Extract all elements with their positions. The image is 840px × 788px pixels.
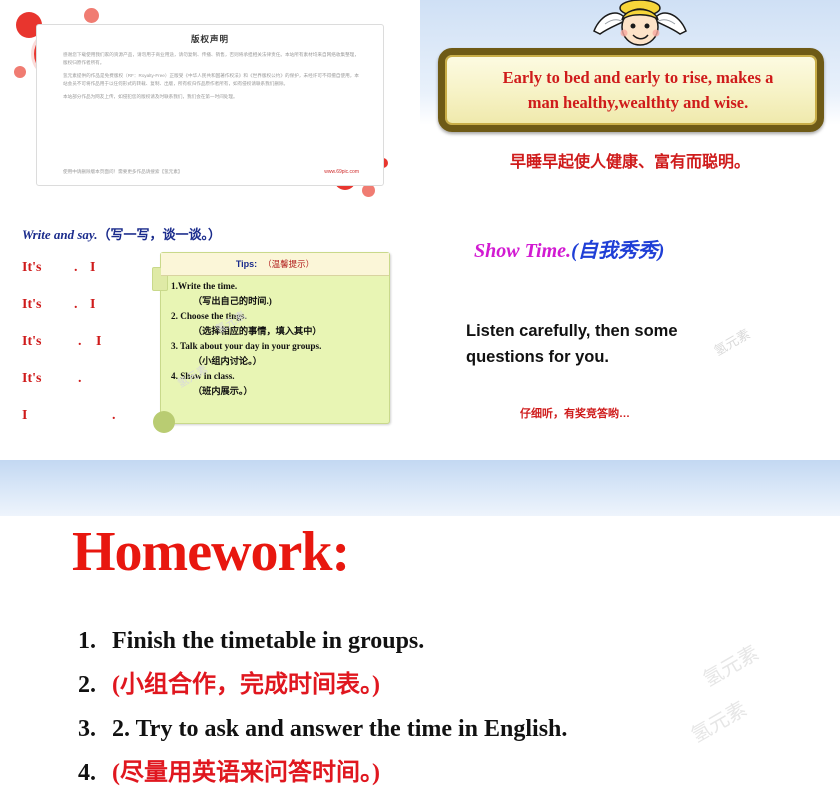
proverb-line-1: Early to bed and early to rise, makes a [455,65,821,90]
sentence-tail: I [90,297,95,313]
write-and-say-title-cn: （写一写，谈一谈。） [97,227,221,242]
homework-header-band [0,460,840,516]
copyright-body: 感谢您下载使用我们家的资源产品，请勿用于商业用途，请勿复制、传播、销售，否则将承… [63,51,359,106]
tips-item: 1.Write the time. [171,279,381,294]
slide-proverb: Early to bed and early to rise, makes a … [420,0,840,208]
tips-item: 3. Talk about your day in your groups. [171,339,381,354]
tips-item: （小组内讨论。） [171,354,381,369]
slide-homework: Homework: 1. Finish the timetable in gro… [0,460,840,788]
homework-item: 3. 2. Try to ask and answer the time in … [78,710,798,748]
homework-item-text: 2. Try to ask and answer the time in Eng… [112,710,567,748]
tips-item: （选择相应的事情，填入其中） [171,324,381,339]
homework-item-number: 2. [78,666,112,704]
slide-copyright: 氢元素 版权声明 感谢您下载使用我们家的资源产品，请勿用于商业用途，请勿复制、传… [0,0,418,208]
write-and-say-title-en: Write and say. [22,227,97,242]
tips-item: （写出自己的时间.) [171,294,381,309]
tips-item: （班内展示。） [171,384,381,399]
sentence-dot: . [74,260,78,276]
proverb-text: Early to bed and early to rise, makes a … [455,65,821,115]
presentation-page: 氢元素 版权声明 感谢您下载使用我们家的资源产品，请勿用于商业用途，请勿复制、传… [0,0,840,788]
show-time-line-2: questions for you. [466,344,796,370]
homework-item: 2. (小组合作，完成时间表。) [78,666,798,704]
copyright-card: 版权声明 感谢您下载使用我们家的资源产品，请勿用于商业用途，请勿复制、传播、销售… [36,24,384,186]
sentence-dot: . [78,371,82,387]
sentence-tail: I [90,260,95,276]
decor-bubble [14,66,26,78]
copyright-footer: 使用中请删除版本页面问！需要更多作品请搜索【氢元素】 www.69pic.com [63,169,359,175]
homework-list: 1. Finish the timetable in groups. 2. (小… [78,622,798,788]
copyright-title: 版权声明 [37,33,383,45]
copyright-url[interactable]: www.69pic.com [324,169,359,175]
copyright-paragraph: 氢元素提供的作品是免费版权（RF：Royalty-Free）正版受《中华人民共和… [63,72,359,88]
sentence-subject: It's [22,260,41,276]
homework-item-text-cn: (尽量用英语来问答时间。) [112,754,380,788]
tips-body: 1.Write the time. （写出自己的时间.) 2. Choose t… [171,279,381,399]
homework-title: Homework: [72,520,349,584]
tips-card: Tips: （温馨提示） 1.Write the time. （写出自己的时间.… [160,252,390,424]
show-time-body: Listen carefully, then some questions fo… [466,318,796,370]
show-time-line-1: Listen carefully, then some [466,318,796,344]
show-time-title-cn: (自我秀秀) [571,240,664,262]
homework-item-text: Finish the timetable in groups. [112,622,424,660]
sentence-dot: . [78,334,82,350]
homework-item-number: 1. [78,622,112,660]
show-time-title: Show Time.(自我秀秀) [474,234,664,263]
proverb-line-2: man healthy,wealthty and wise. [455,90,821,115]
sentence-subject: It's [22,297,41,313]
copyright-paragraph: 本站部分作品为网友上传，如侵犯您的版权请及时联系我们，我们会在第一时间处理。 [63,93,359,101]
show-time-title-en: Show Time. [474,240,571,262]
show-time-chinese: 仔细听，有奖竞答哟… [520,405,630,421]
homework-item: 4. (尽量用英语来问答时间。) [78,754,798,788]
tips-header: Tips: （温馨提示） [161,253,389,276]
tips-item: 2. Choose the tings. [171,309,381,324]
homework-item-text-cn: (小组合作，完成时间表。) [112,666,380,704]
sentence-dot: . [74,297,78,313]
homework-item-number: 3. [78,710,112,748]
sentence-dot: . [112,408,116,424]
tips-item: 4. Show in class. [171,369,381,384]
write-and-say-title: Write and say.（写一写，谈一谈。） [22,224,221,243]
decor-bubble [84,8,99,23]
slide-write-and-say: Write and say.（写一写，谈一谈。） It's . I It's .… [0,210,418,458]
sentence-tail: I [96,334,101,350]
copyright-paragraph: 感谢您下载使用我们家的资源产品，请勿用于商业用途，请勿复制、传播、销售，否则将承… [63,51,359,67]
sentence-subject: I [22,408,27,424]
sentence-subject: It's [22,334,41,350]
homework-item-number: 4. [78,754,112,788]
tips-corner-dot [153,411,175,433]
tips-label: Tips: [236,259,257,269]
slide-show-time: Show Time.(自我秀秀) Listen carefully, then … [420,210,840,458]
copyright-footer-text: 使用中请删除版本页面问！需要更多作品请搜索【氢元素】 [63,169,182,175]
sentence-subject: It's [22,371,41,387]
proverb-box: Early to bed and early to rise, makes a … [438,48,824,132]
proverb-chinese: 早睡早起使人健康、富有而聪明。 [420,148,840,172]
homework-item: 1. Finish the timetable in groups. [78,622,798,660]
tips-label-cn: （温馨提示） [263,258,314,270]
